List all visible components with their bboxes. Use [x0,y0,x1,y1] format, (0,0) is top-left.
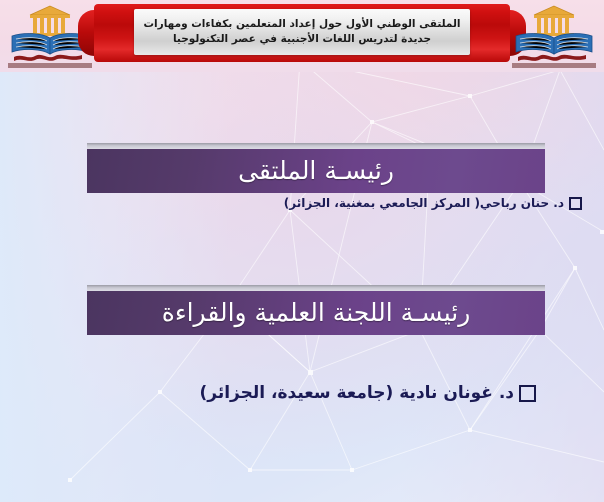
section-heading-2-text: رئيسـة اللجنة العلمية والقراءة [162,299,471,327]
section-heading-1-text: رئيسـة الملتقى [238,157,394,185]
section-1-entry-text: د. حنان رباحي( المركز الجامعي بمغنية، ال… [284,196,564,210]
section-heading-banner-1: رئيسـة الملتقى [87,143,545,193]
section-heading-banner-2: رئيسـة اللجنة العلمية والقراءة [87,285,545,335]
banner-body: رئيسـة الملتقى [87,149,545,193]
section-2-entry-text: د. غونان نادية (جامعة سعيدة، الجزائر) [200,383,515,403]
section-2-entry: د. غونان نادية (جامعة سعيدة، الجزائر) [200,383,537,403]
conference-title: الملتقى الوطني الأول حول إعداد المتعلمين… [138,17,467,47]
presentation-slide: الملتقى الوطني الأول حول إعداد المتعلمين… [0,0,604,502]
title-ribbon: الملتقى الوطني الأول حول إعداد المتعلمين… [94,4,510,62]
network-constellation-decoration [0,0,604,502]
square-bullet-icon [519,385,536,402]
ribbon-title-plate: الملتقى الوطني الأول حول إعداد المتعلمين… [134,9,470,55]
slide-header: الملتقى الوطني الأول حول إعداد المتعلمين… [0,0,604,72]
section-1-entry: د. حنان رباحي( المركز الجامعي بمغنية، ال… [284,196,582,210]
university-logo-right-icon [506,2,602,70]
banner-body: رئيسـة اللجنة العلمية والقراءة [87,291,545,335]
conference-title-line-1: الملتقى الوطني الأول حول إعداد المتعلمين… [144,17,461,32]
conference-title-line-2: جديدة لتدريس اللغات الأجنبية في عصر التك… [144,32,461,47]
square-bullet-icon [569,197,582,210]
